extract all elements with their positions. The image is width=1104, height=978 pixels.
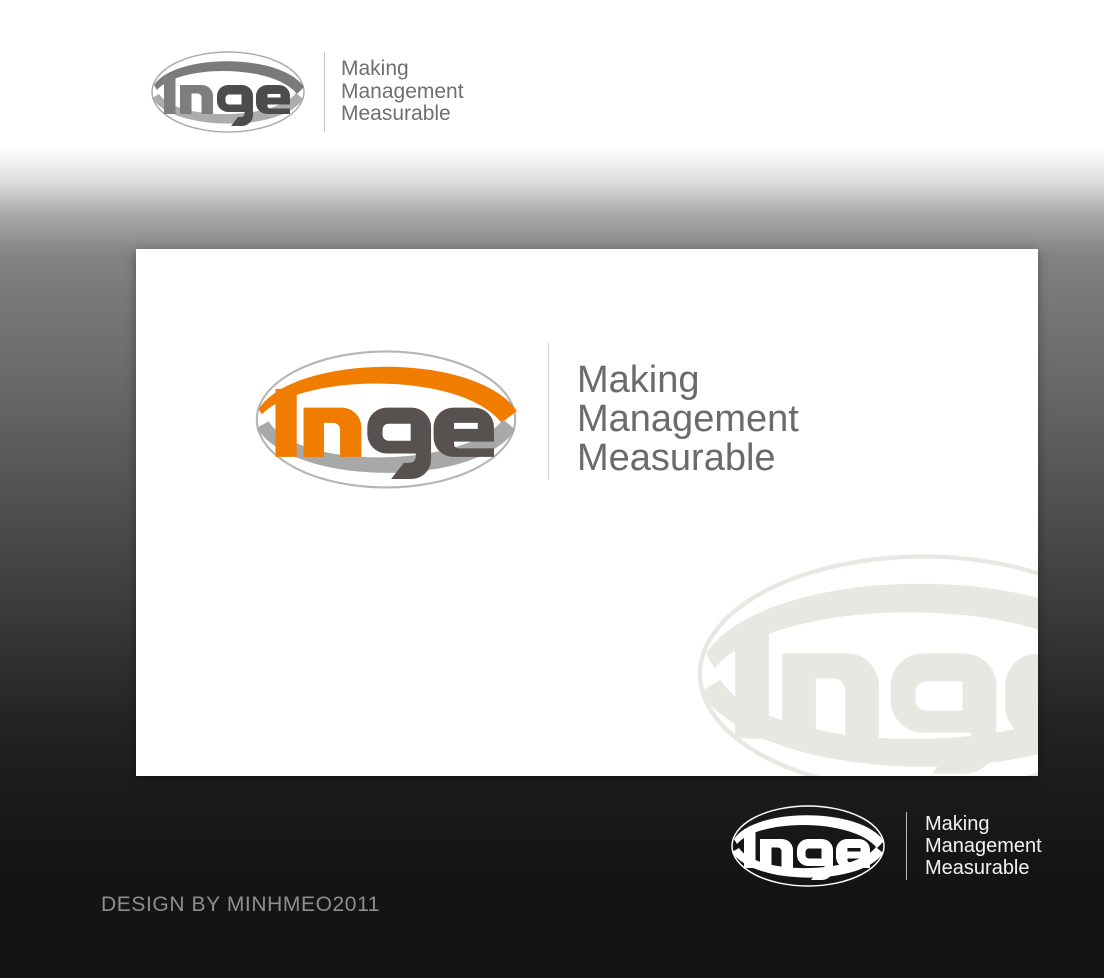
header-divider	[324, 52, 325, 132]
tagline-line-3: Measurable	[341, 103, 464, 126]
primary-divider	[548, 343, 549, 480]
header-logo-lockup: Making Management Measurable	[148, 44, 458, 140]
tagline-line-3: Measurable	[577, 439, 799, 478]
footer-logo-lockup: Making Management Measurable	[728, 800, 1048, 892]
tagline-line-1: Making	[341, 58, 464, 81]
tagline-line-2: Management	[925, 835, 1042, 857]
primary-logo-mark	[250, 337, 522, 502]
tagline-line-1: Making	[577, 361, 799, 400]
primary-tagline: Making Management Measurable	[577, 361, 799, 478]
header-logo-mark	[148, 46, 308, 138]
presentation-canvas: Making Management Measurable	[0, 0, 1104, 978]
watermark-wordmark	[735, 624, 1038, 774]
footer-logo-mark	[728, 800, 888, 892]
primary-logo-lockup: Making Management Measurable	[250, 337, 910, 502]
tagline-line-2: Management	[341, 81, 464, 104]
watermark-logo	[663, 539, 1038, 776]
footer-divider	[906, 812, 907, 880]
tagline-line-2: Management	[577, 400, 799, 439]
watermark-bottom-arc	[700, 677, 1038, 767]
wordmark-in-orange	[276, 389, 362, 457]
footer-tagline: Making Management Measurable	[925, 813, 1042, 879]
watermark-top-arc	[706, 584, 1038, 680]
designer-credit: DESIGN BY MINHMEO2011	[101, 893, 380, 917]
watermark-ellipse-outline	[700, 557, 1038, 776]
tagline-line-3: Measurable	[925, 857, 1042, 879]
header-tagline: Making Management Measurable	[341, 58, 464, 126]
logo-presentation-card: Making Management Measurable	[136, 249, 1038, 776]
tagline-line-1: Making	[925, 813, 1042, 835]
